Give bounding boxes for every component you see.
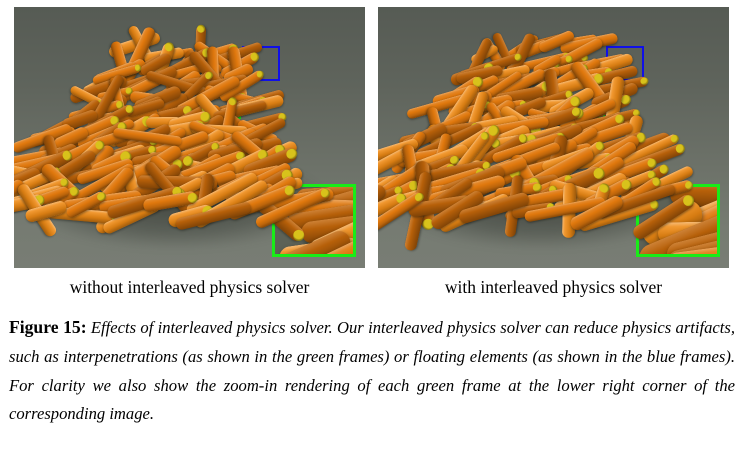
figure-panel-row: [0, 0, 743, 268]
capsule-tip: [197, 24, 205, 32]
capsule-tip: [532, 183, 542, 193]
render-panel-without-solver: [14, 7, 365, 268]
figure-caption: Figure 15: Effects of interleaved physic…: [9, 313, 735, 429]
subcaption-with-solver: with interleaved physics solver: [378, 274, 729, 300]
figure-label: Figure 15:: [9, 317, 87, 337]
capsule-tip: [640, 77, 649, 86]
figure-page: without interleaved physics solver with …: [0, 0, 743, 474]
subcaption-without-solver: without interleaved physics solver: [14, 274, 365, 300]
figure-caption-text: Effects of interleaved physics solver. O…: [9, 318, 735, 423]
subcaption-row: without interleaved physics solver with …: [0, 268, 743, 308]
capsule-tip: [598, 182, 610, 194]
capsule-tip: [164, 41, 176, 53]
render-panel-with-solver: [378, 7, 729, 268]
capsule-tip: [675, 143, 686, 154]
capsule-tip: [719, 212, 720, 239]
capsule-tip: [227, 97, 236, 106]
capsule-tip: [669, 134, 679, 144]
